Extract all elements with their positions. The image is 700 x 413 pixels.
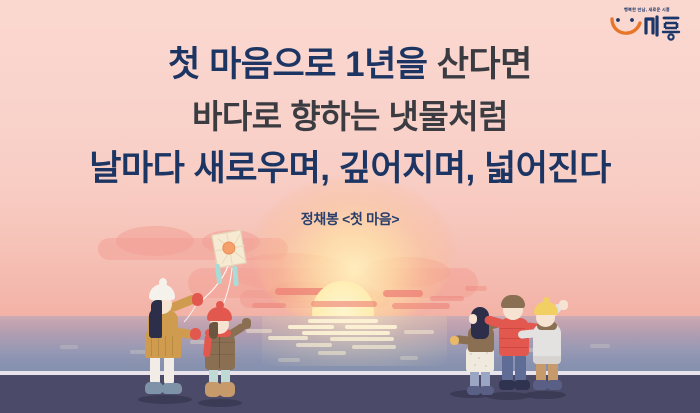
- hair: [209, 322, 218, 339]
- water-ripple: [404, 330, 434, 334]
- skirt-pleat: [165, 334, 166, 356]
- water-ripple: [268, 336, 308, 340]
- cloud-streak: [252, 303, 286, 308]
- face: [469, 314, 477, 324]
- cloud-streak: [392, 303, 450, 309]
- mitten-left: [450, 336, 459, 345]
- water-ripple: [318, 351, 346, 355]
- person-grey-coat-yellow-beanie: [524, 308, 580, 398]
- poem-line-1: 첫 마음으로 1년을 산다면: [0, 42, 700, 87]
- coat-seam: [219, 334, 220, 368]
- korean-shield-kite: [211, 230, 246, 269]
- boot-left: [533, 380, 548, 390]
- mitten: [242, 318, 251, 329]
- poem-line-1-segment-navy: 첫: [168, 45, 209, 84]
- skirt-pleat: [172, 334, 173, 356]
- poem-line-3: 날마다 새로우며, 깊어지며, 넓어진다: [0, 146, 700, 191]
- poem-attribution: 정채봉 <첫 마음>: [0, 209, 700, 229]
- hand-raised: [559, 300, 568, 310]
- poster-root: 첫 마음으로 1년을 산다면 바다로 향하는 냇물처럼 날마다 새로우며, 깊어…: [0, 0, 700, 413]
- skirt-dot: [478, 357, 480, 359]
- boot-right: [547, 380, 562, 390]
- water-ripple: [308, 319, 378, 323]
- water-ripple: [288, 325, 334, 329]
- water-ripple: [352, 345, 396, 349]
- siheung-logo-icon: [608, 13, 686, 43]
- logo-tagline: 행복한 만남, 새로운 시흥: [608, 6, 686, 13]
- beanie-hat: [207, 307, 232, 321]
- poem-line-1-segment-navy-2: 마음으로 1년을: [209, 45, 437, 84]
- water-ripple: [296, 343, 332, 347]
- cloud-streak: [383, 290, 423, 297]
- siheung-city-logo[interactable]: 행복한 만남, 새로운 시흥: [608, 6, 686, 46]
- boot-left: [499, 380, 515, 390]
- water-ripple: [345, 325, 397, 329]
- boot-right: [162, 383, 182, 394]
- beanie-pompom: [543, 297, 550, 304]
- water-ripple: [330, 337, 394, 341]
- poem-block: 첫 마음으로 1년을 산다면 바다로 향하는 냇물처럼 날마다 새로우며, 깊어…: [0, 0, 700, 229]
- water-ripple: [590, 344, 610, 348]
- beanie-pompom: [216, 301, 224, 309]
- skirt-dot: [474, 364, 476, 366]
- poem-line-1-segment-dark: 산다면: [437, 45, 532, 84]
- cloud-streak: [311, 301, 377, 307]
- beanie-hat: [501, 295, 525, 308]
- poem-line-2: 바다로 향하는 냇물처럼: [0, 94, 700, 139]
- hair: [151, 300, 162, 318]
- mitten-upper: [192, 293, 203, 306]
- water-ripple: [278, 358, 300, 362]
- skirt-dot: [470, 353, 472, 355]
- coat-hem: [533, 356, 561, 364]
- boot-left: [467, 386, 481, 395]
- cloud-streak: [430, 296, 464, 301]
- skirt-dot: [485, 365, 487, 367]
- beanie-pompom: [159, 278, 167, 287]
- ground-foreground: [0, 375, 700, 413]
- boot-right: [219, 382, 235, 397]
- boot-left: [145, 382, 163, 394]
- person-child-with-scarf: [198, 312, 254, 404]
- poem-line-2-segment-dark: 바다로 향하는 냇물처럼: [192, 98, 508, 135]
- logo-mark: [608, 13, 686, 43]
- water-ripple: [400, 356, 418, 360]
- cloud-streak: [465, 286, 487, 291]
- water-ripple: [302, 331, 390, 335]
- water-ripple: [60, 345, 78, 349]
